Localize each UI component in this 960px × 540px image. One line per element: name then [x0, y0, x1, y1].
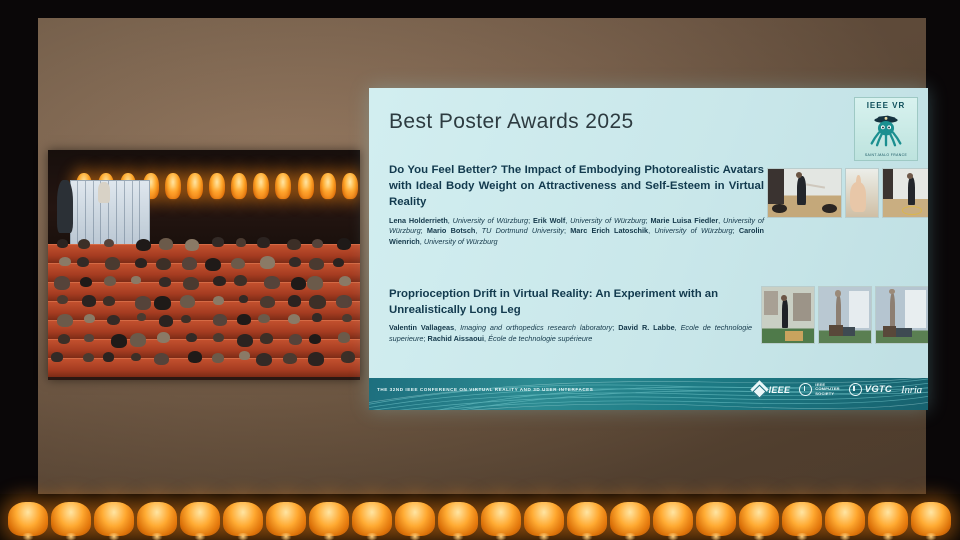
photo-audience-head	[342, 314, 352, 322]
photo-audience-head	[333, 258, 344, 267]
photo-stage-light-glow	[188, 187, 202, 201]
thumbnail-avatar-standing-front	[882, 168, 928, 218]
stage-light-floor-spot	[236, 533, 250, 540]
stage-light-floor-spot	[666, 533, 680, 540]
photo-audience-head	[239, 351, 249, 360]
photo-audience-head	[58, 334, 70, 344]
photo-audience-head	[258, 314, 270, 324]
award-entry-2-thumbnails	[761, 286, 928, 344]
slide-footer-banner: THE 32ND IEEE CONFERENCE ON VIRTUAL REAL…	[369, 378, 928, 410]
photo-stage-light-glow	[276, 187, 290, 201]
photo-audience-head	[59, 257, 70, 266]
photo-audience-head	[309, 334, 321, 344]
sponsor-logos: IEEE IEEE COMPUTER SOCIETY VGTC Inria	[753, 383, 922, 396]
award-entry-1-thumbnails	[767, 168, 928, 218]
photo-audience-head	[239, 295, 248, 303]
stage-light-floor-spot	[924, 533, 938, 540]
photo-audience-head	[260, 333, 273, 344]
vgtc-logo: VGTC	[849, 383, 892, 396]
stage-light-floor-spot	[365, 533, 379, 540]
photo-audience-head	[156, 258, 171, 271]
photo-audience-head	[213, 314, 227, 325]
photo-audience-head	[289, 257, 301, 267]
stage-light	[911, 502, 951, 536]
photo-audience-head	[212, 353, 224, 363]
photo-audience-head	[312, 313, 322, 321]
stage-light	[825, 502, 865, 536]
photo-audience-head	[288, 295, 302, 306]
photo-audience-head	[180, 295, 195, 308]
stage-light-row	[0, 494, 960, 540]
photo-audience-head	[157, 332, 170, 343]
stage-light	[352, 502, 392, 536]
award-entry-1: Do You Feel Better? The Impact of Embody…	[389, 162, 764, 247]
photo-audience-head	[291, 277, 306, 290]
thumbnail-avatar-room-wide-shot	[767, 168, 842, 218]
photo-audience-head	[154, 353, 169, 365]
photo-audience-head	[80, 277, 93, 287]
stage-light-floor-spot	[64, 533, 78, 540]
photo-audience-head	[287, 239, 301, 250]
stage-light	[524, 502, 564, 536]
award-entry-1-authors: Lena Holderrieth, University of Würzburg…	[389, 216, 764, 248]
photo-audience-head	[77, 257, 90, 267]
photo-audience-head	[257, 237, 270, 247]
photo-audience-head	[103, 296, 115, 306]
photo-audience-head	[51, 352, 62, 361]
award-entry-2: Proprioception Drift in Virtual Reality:…	[389, 286, 752, 345]
ieee-vr-logo: IEEE VR SAINT-MALO FRANCE	[854, 97, 918, 161]
projected-slide: Best Poster Awards 2025 IEEE VR SAINT-MA…	[369, 88, 928, 410]
stage-light	[653, 502, 693, 536]
stage-light-floor-spot	[279, 533, 293, 540]
photo-audience-head	[183, 277, 199, 290]
photo-audience-head	[135, 258, 148, 268]
thumbnail-vr-avatar-leg-step-2	[875, 286, 928, 344]
photo-audience-head	[289, 334, 303, 345]
ieee-logo: IEEE	[753, 383, 791, 396]
photo-audience-head	[308, 352, 324, 366]
photo-stage-light-glow	[343, 187, 357, 201]
photo-audience-head	[84, 314, 96, 324]
photo-audience-head	[237, 314, 250, 325]
photo-audience-head	[260, 256, 275, 268]
photo-audience-head	[188, 351, 202, 363]
thumbnail-hand-closeup	[845, 168, 879, 218]
photo-stage-light-glow	[299, 187, 313, 201]
award-entry-2-title: Proprioception Drift in Virtual Reality:…	[389, 286, 752, 318]
photo-audience-head	[341, 351, 355, 362]
stage-light	[610, 502, 650, 536]
stage-light	[739, 502, 779, 536]
photo-stage-light-glow	[166, 187, 180, 201]
photo-audience-head	[105, 257, 120, 270]
auditorium-audience-photo	[48, 150, 360, 380]
photo-audience-head	[130, 333, 146, 346]
banner-conference-text: THE 32ND IEEE CONFERENCE ON VIRTUAL REAL…	[377, 387, 593, 392]
photo-audience-head	[104, 239, 114, 247]
stage-light-floor-spot	[795, 533, 809, 540]
slide-title: Best Poster Awards 2025	[389, 110, 634, 134]
stage-light-floor-spot	[107, 533, 121, 540]
stage-light-floor-spot	[580, 533, 594, 540]
photo-audience-head	[288, 314, 300, 324]
stage-light	[8, 502, 48, 536]
stage-light-floor-spot	[881, 533, 895, 540]
photo-audience-head	[234, 275, 247, 286]
stage-light	[395, 502, 435, 536]
stage-light-floor-spot	[150, 533, 164, 540]
photo-audience-head	[159, 315, 173, 327]
thumbnail-lab-participant-stepping	[761, 286, 815, 344]
photo-audience-head	[336, 295, 351, 308]
photo-audience-head	[103, 352, 114, 361]
stage-light	[137, 502, 177, 536]
ieee-logo-label: IEEE	[769, 385, 791, 395]
stage-light	[868, 502, 908, 536]
stage-light-floor-spot	[494, 533, 508, 540]
ieee-diamond-icon	[750, 381, 768, 399]
photo-audience-head	[231, 258, 246, 270]
photo-audience-head	[82, 295, 96, 306]
photo-audience-head	[154, 296, 170, 309]
photo-audience-head	[264, 276, 280, 289]
thumbnail-vr-avatar-leg-step-1	[818, 286, 872, 344]
photo-audience-head	[260, 296, 275, 308]
photo-audience-head	[338, 332, 350, 342]
photo-audience-head	[159, 277, 171, 287]
photo-audience-head	[57, 314, 72, 327]
stage-light	[567, 502, 607, 536]
photo-stage-light-glow	[232, 187, 246, 201]
stage-light	[309, 502, 349, 536]
stage-light-floor-spot	[623, 533, 637, 540]
photo-presenter	[98, 182, 110, 203]
photo-audience-head	[131, 353, 141, 361]
photo-audience-head	[205, 258, 221, 271]
stage-light	[180, 502, 220, 536]
photo-audience-head	[131, 276, 140, 284]
ieee-vr-logo-caption: SAINT-MALO FRANCE	[865, 153, 907, 157]
photo-stage-light-glow	[321, 187, 335, 201]
photo-audience-seating	[48, 244, 360, 380]
photo-audience-head	[337, 238, 351, 250]
photo-audience-head	[185, 239, 199, 251]
stage-light-floor-spot	[752, 533, 766, 540]
stage-light	[266, 502, 306, 536]
stage-light	[481, 502, 521, 536]
photo-audience-head	[283, 353, 296, 364]
photo-audience-head	[57, 295, 69, 305]
vgtc-logo-label: VGTC	[865, 384, 892, 395]
photo-audience-head	[182, 257, 197, 270]
photo-audience-head	[307, 276, 323, 289]
screenshot-root: Best Poster Awards 2025 IEEE VR SAINT-MA…	[0, 0, 960, 540]
cs-line3: SOCIETY	[815, 391, 834, 396]
stage-light	[51, 502, 91, 536]
computer-society-label: IEEE COMPUTER SOCIETY	[815, 383, 840, 396]
photo-audience-head	[309, 295, 326, 309]
photo-audience-head	[186, 333, 197, 342]
stage-light-floor-spot	[537, 533, 551, 540]
photo-audience-head	[312, 239, 323, 248]
vgtc-circle-icon	[849, 383, 862, 396]
stage-light	[438, 502, 478, 536]
stage-light-floor-spot	[709, 533, 723, 540]
photo-audience-head	[213, 296, 224, 305]
stage-light-floor-spot	[193, 533, 207, 540]
stage-light-floor-spot	[838, 533, 852, 540]
photo-audience-head	[135, 296, 151, 309]
photo-audience-head	[111, 334, 128, 348]
stage-light	[782, 502, 822, 536]
photo-speaker	[57, 180, 73, 233]
photo-audience-head	[213, 333, 224, 342]
photo-stage-light-glow	[210, 187, 224, 201]
award-entry-2-authors: Valentin Vallageas, Imaging and orthoped…	[389, 323, 752, 344]
stage-light	[223, 502, 263, 536]
photo-audience-head	[213, 276, 225, 286]
stage-light	[94, 502, 134, 536]
photo-audience-head	[236, 238, 246, 247]
ieee-computer-society-logo: IEEE COMPUTER SOCIETY	[799, 383, 840, 396]
photo-audience-head	[84, 334, 94, 342]
photo-audience-head	[57, 239, 68, 248]
inria-logo: Inria	[901, 384, 922, 396]
photo-audience-head	[104, 276, 116, 286]
photo-audience-head	[54, 276, 70, 289]
computer-society-circle-icon	[799, 383, 812, 396]
photo-audience-head	[309, 258, 323, 270]
photo-audience-head	[256, 353, 272, 366]
photo-audience-head	[212, 237, 223, 246]
stage-light-floor-spot	[322, 533, 336, 540]
stage-light-floor-spot	[21, 533, 35, 540]
stage-light	[696, 502, 736, 536]
stage-light-floor-spot	[451, 533, 465, 540]
photo-stage-light-glow	[254, 187, 268, 201]
pirate-octopus-icon	[868, 113, 904, 147]
photo-audience-head	[159, 238, 173, 250]
photo-audience-head	[237, 334, 253, 347]
stage-light-floor-spot	[408, 533, 422, 540]
award-entry-1-title: Do You Feel Better? The Impact of Embody…	[389, 162, 764, 211]
photo-audience-head	[136, 239, 151, 251]
ieee-vr-logo-title: IEEE VR	[867, 101, 906, 110]
slide-background	[369, 88, 928, 410]
inria-logo-label: Inria	[901, 384, 922, 396]
